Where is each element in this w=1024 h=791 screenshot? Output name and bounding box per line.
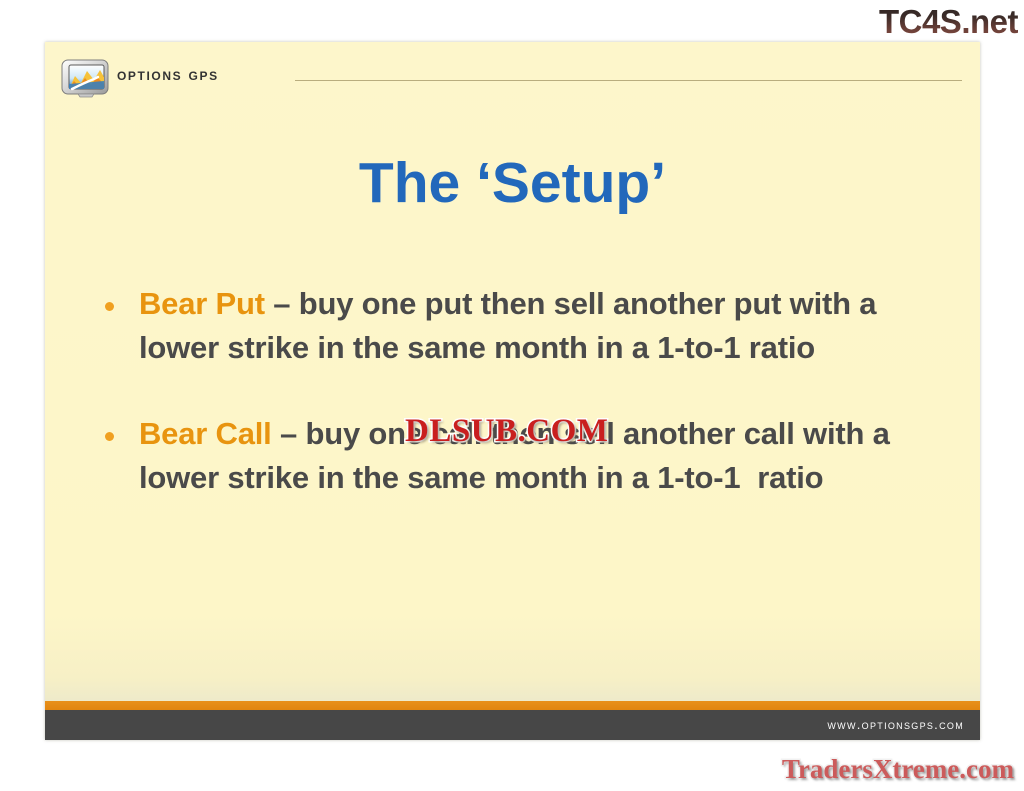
slide-footer: www.OptionsGPS.com — [45, 710, 980, 740]
bullet-lead-term: Bear Put — [139, 286, 265, 321]
list-item: Bear Put – buy one put then sell another… — [97, 282, 957, 370]
footer-accent-stripe — [45, 701, 980, 710]
bullet-text: Bear Put – buy one put then sell another… — [139, 282, 957, 370]
page-title: The ‘Setup’ — [45, 150, 980, 216]
watermark-tc4s: TC4S.net — [879, 2, 1018, 42]
brand-name: Options GPS — [117, 65, 219, 85]
watermark-tradersxtreme: TradersXtreme.com — [782, 753, 1014, 785]
monitor-chart-icon — [60, 57, 112, 99]
slide-header: Options GPS — [45, 42, 980, 98]
footer-url: www.OptionsGPS.com — [827, 717, 964, 732]
watermark-dlsub: DLSUB.COM — [405, 412, 608, 450]
bullet-lead-term: Bear Call — [139, 416, 272, 451]
header-divider — [295, 80, 962, 81]
bullet-dot-icon — [105, 432, 114, 441]
presentation-slide: Options GPS The ‘Setup’ Bear Put – buy o… — [45, 42, 980, 740]
bullet-dot-icon — [105, 302, 114, 311]
